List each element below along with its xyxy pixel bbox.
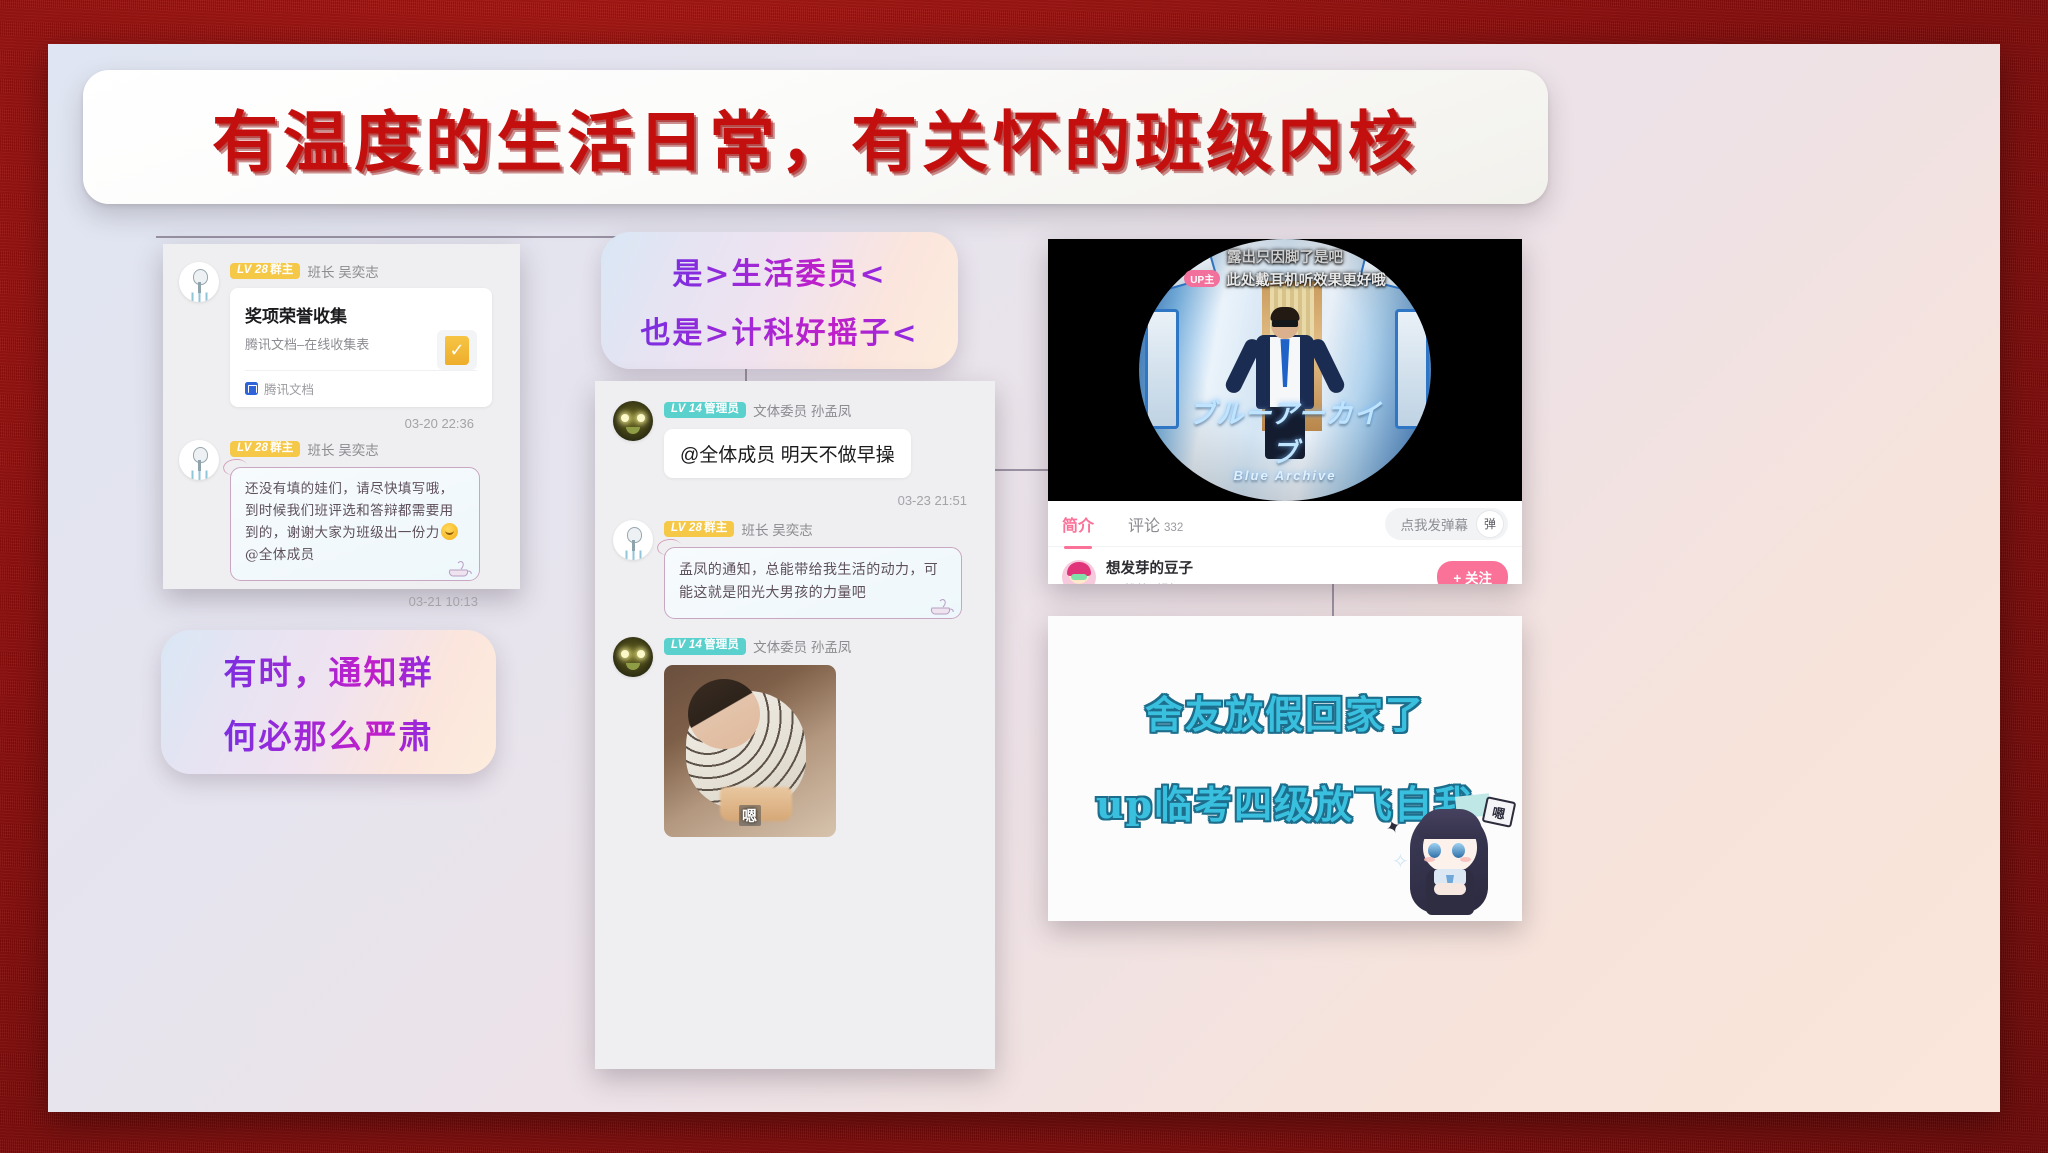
image-caption: 嗯 bbox=[739, 805, 761, 826]
level-badge: LV 28群主 bbox=[230, 263, 300, 280]
level-badge: LV 28群主 bbox=[230, 441, 300, 458]
message-text: 还没有填的娃们，请尽快填写哦，到时候我们班评选和答辩都需要用到的，谢谢大家为班级… bbox=[245, 481, 454, 541]
up-tag: UP主 bbox=[1184, 270, 1220, 287]
caption-line-1: 是>生活委员< bbox=[672, 249, 886, 293]
sender-name: 文体委员 孙孟凤 bbox=[753, 636, 851, 656]
meme-line-1: 舍友放假回家了 bbox=[1048, 684, 1522, 739]
message-image[interactable]: 嗯 bbox=[664, 665, 836, 837]
danmaku-placeholder: 点我发弹幕 bbox=[1401, 514, 1469, 534]
chat-message-row: LV 28群主 班长 吴奕志 还没有填的娃们，请尽快填写哦，到时候我们班评选和答… bbox=[179, 440, 504, 609]
avatar bbox=[613, 520, 653, 560]
comment-count: 332 bbox=[1164, 522, 1183, 534]
chat-message-row: LV 14管理员 文体委员 孙孟凤 嗯 bbox=[613, 637, 977, 837]
tab-intro[interactable]: 简介 bbox=[1062, 512, 1094, 536]
video-tabs: 简介 评论332 点我发弹幕 弹 bbox=[1048, 501, 1522, 547]
sender-name: 班长 吴奕志 bbox=[307, 439, 378, 459]
danmaku-input[interactable]: 点我发弹幕 弹 bbox=[1385, 508, 1509, 540]
meme-screenshot: 舍友放假回家了 up临考四级放飞自我 嗯 ✦ ✧ bbox=[1048, 616, 1522, 921]
sender-name: 班长 吴奕志 bbox=[741, 519, 812, 539]
chat-message-row: LV 28群主 班长 吴奕志 孟凤的通知，总能带给我生活的动力，可能这就是阳光大… bbox=[613, 520, 977, 619]
caption-line-2: 何必那么严肃 bbox=[224, 710, 434, 758]
follow-button[interactable]: + 关注 bbox=[1437, 561, 1508, 584]
message-text: 孟凤的通知，总能带给我生活的动力，可能这就是阳光大男孩的力量吧 bbox=[679, 562, 938, 601]
level-badge: LV 14管理员 bbox=[664, 402, 746, 419]
message-timestamp: 03-21 10:13 bbox=[230, 594, 504, 609]
title-banner: 有温度的生活日常，有关怀的班级内核 bbox=[83, 70, 1548, 204]
chibi-sticker: 嗯 ✦ ✧ bbox=[1390, 795, 1516, 919]
bubble-teapot-decor bbox=[447, 560, 473, 577]
avatar[interactable] bbox=[1062, 560, 1096, 584]
doc-source: 腾讯文档 bbox=[245, 370, 477, 407]
avatar bbox=[179, 262, 219, 302]
message-meta: LV 28群主 班长 吴奕志 bbox=[664, 520, 977, 538]
avatar bbox=[613, 401, 653, 441]
message-meta: LV 14管理员 文体委员 孙孟凤 bbox=[664, 637, 977, 655]
tab-comments[interactable]: 评论332 bbox=[1128, 512, 1183, 536]
danmaku-line: UP主此处戴耳机听效果更好哦 bbox=[1048, 269, 1522, 290]
level-badge: LV 14管理员 bbox=[664, 638, 746, 655]
doc-link-card[interactable]: 奖项荣誉收集 腾讯文档–在线收集表 腾讯文档 bbox=[230, 288, 492, 407]
video-watermark: ブルーアーカイブ Blue Archive bbox=[1185, 392, 1385, 483]
chat-message-row: LV 28群主 班长 吴奕志 奖项荣誉收集 腾讯文档–在线收集表 腾讯文档 03… bbox=[179, 262, 504, 431]
doc-title: 奖项荣誉收集 bbox=[245, 302, 477, 327]
uploader-stats: 113粉丝 1视频 bbox=[1106, 581, 1193, 584]
uploader-row: 想发芽的豆子 113粉丝 1视频 + 关注 bbox=[1048, 547, 1522, 584]
message-bubble: 还没有填的娃们，请尽快填写哦，到时候我们班评选和答辩都需要用到的，谢谢大家为班级… bbox=[230, 467, 480, 581]
sender-name: 班长 吴奕志 bbox=[307, 261, 378, 281]
message-mention: @全体成员 bbox=[245, 547, 315, 563]
bubble-corner-decor bbox=[222, 457, 248, 476]
chat-message-row: LV 14管理员 文体委员 孙孟凤 @全体成员 明天不做早操 03-23 21:… bbox=[613, 401, 977, 508]
caption-line-1: 有时，通知群 bbox=[224, 646, 434, 694]
message-timestamp: 03-20 22:36 bbox=[230, 416, 504, 431]
bubble-corner-decor bbox=[656, 537, 682, 556]
video-player[interactable]: ブルーアーカイブ Blue Archive 露出只因脚了是吧 UP主此处戴耳机听… bbox=[1048, 239, 1522, 501]
uploader-name: 想发芽的豆子 bbox=[1106, 557, 1193, 578]
message-meta: LV 28群主 班长 吴奕志 bbox=[230, 262, 504, 280]
caption-card-left: 有时，通知群 何必那么严肃 bbox=[161, 630, 496, 774]
message-bubble: 孟凤的通知，总能带给我生活的动力，可能这就是阳光大男孩的力量吧 bbox=[664, 547, 962, 619]
bubble-teapot-decor bbox=[929, 598, 955, 615]
page-title: 有温度的生活日常，有关怀的班级内核 bbox=[212, 89, 1419, 185]
chat-screenshot-center: LV 14管理员 文体委员 孙孟凤 @全体成员 明天不做早操 03-23 21:… bbox=[595, 381, 995, 1069]
danmaku-icon[interactable]: 弹 bbox=[1476, 510, 1504, 538]
doc-thumbnail-icon bbox=[437, 330, 477, 370]
tencent-docs-icon bbox=[245, 382, 258, 395]
avatar bbox=[613, 637, 653, 677]
kiss-emoji bbox=[441, 523, 458, 540]
bilibili-video-card: ブルーアーカイブ Blue Archive 露出只因脚了是吧 UP主此处戴耳机听… bbox=[1048, 239, 1522, 584]
sender-name: 文体委员 孙孟凤 bbox=[753, 400, 851, 420]
message-meta: LV 28群主 班长 吴奕志 bbox=[230, 440, 504, 458]
message-bubble: @全体成员 明天不做早操 bbox=[664, 429, 911, 478]
slide-page: 有温度的生活日常，有关怀的班级内核 LV 28群主 班长 吴奕志 奖项荣誉收集 … bbox=[48, 44, 2000, 1112]
caption-line-2: 也是>计科好摇子< bbox=[640, 308, 918, 352]
message-meta: LV 14管理员 文体委员 孙孟凤 bbox=[664, 401, 977, 419]
message-timestamp: 03-23 21:51 bbox=[664, 493, 977, 508]
danmaku-line: 露出只因脚了是吧 bbox=[1048, 246, 1522, 267]
avatar bbox=[179, 440, 219, 480]
chat-screenshot-left: LV 28群主 班长 吴奕志 奖项荣誉收集 腾讯文档–在线收集表 腾讯文档 03… bbox=[163, 244, 520, 589]
caption-card-center: 是>生活委员< 也是>计科好摇子< bbox=[601, 232, 958, 369]
level-badge: LV 28群主 bbox=[664, 521, 734, 538]
